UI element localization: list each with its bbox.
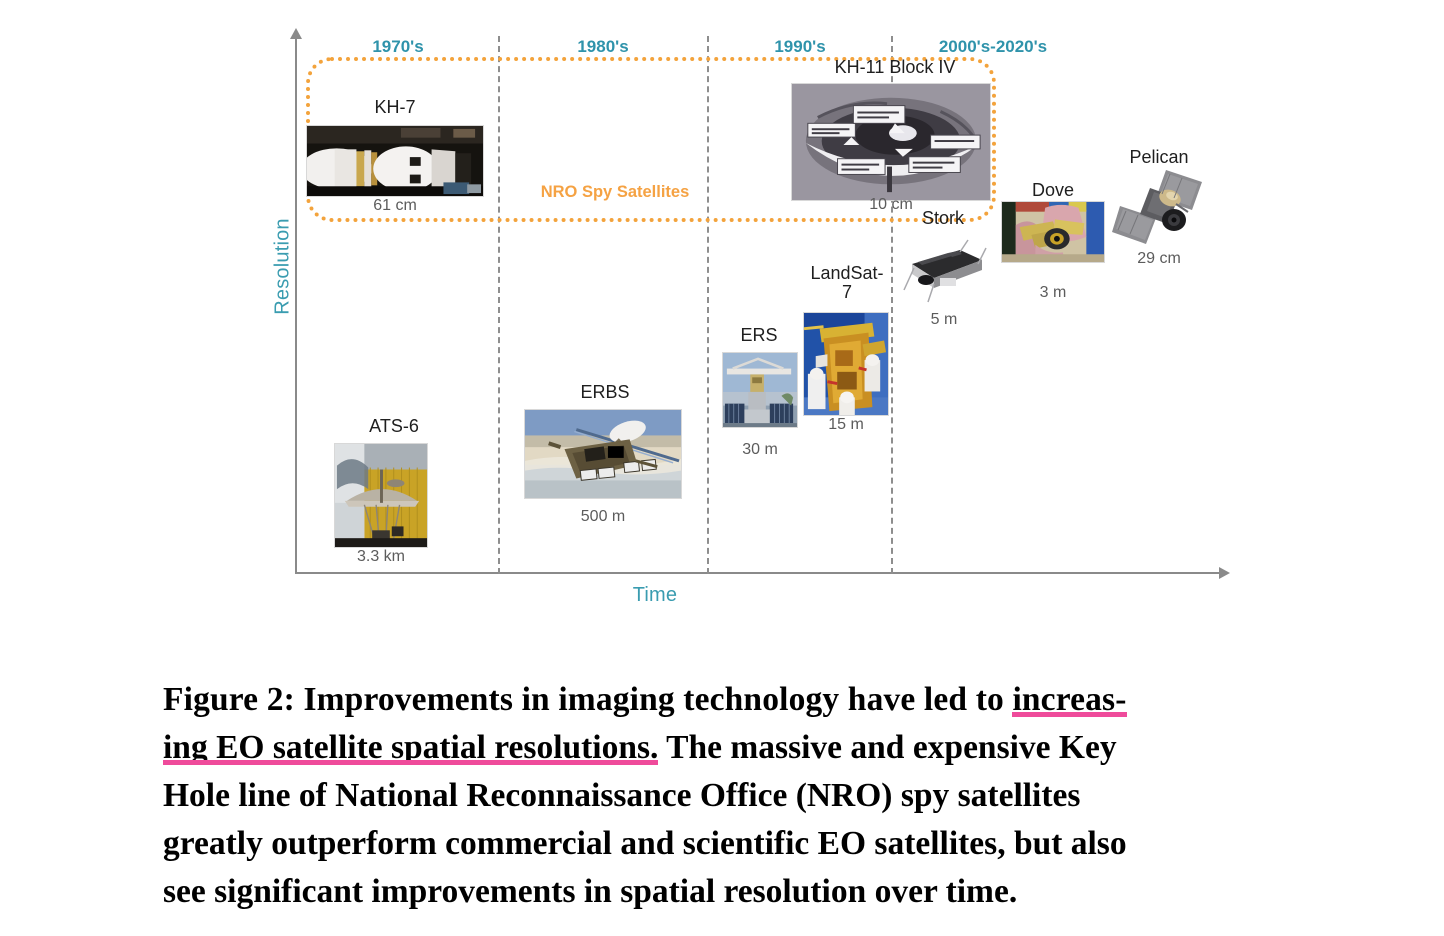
decade-label-1990s: 1990's — [720, 37, 880, 57]
caption-line-1-text: Figure 2: Improvements in imaging techno… — [163, 681, 1012, 718]
satellite-name-kh-7: KH-7 — [330, 98, 460, 117]
caption-line-3: Hole line of National Reconnaissance Off… — [163, 772, 1343, 820]
figure-page: Resolution Time 1970's 1980's 1990's 200… — [0, 0, 1444, 936]
satellite-name-stork: Stork — [898, 209, 988, 228]
satellite-image-landsat-7 — [803, 312, 889, 416]
satellite-resolution-ats-6: 3.3 km — [334, 548, 428, 566]
caption-highlight-2: ing EO satellite spatial resolutions. — [163, 729, 658, 766]
caption-line-5: see significant improvements in spatial … — [163, 868, 1343, 916]
satellite-name-ers: ERS — [713, 326, 805, 345]
figure-chart: Resolution Time 1970's 1980's 1990's 200… — [0, 0, 1444, 640]
satellite-image-kh-11 — [791, 83, 991, 201]
satellite-image-kh-7 — [306, 125, 484, 197]
y-axis-label: Resolution — [272, 202, 295, 332]
satellite-image-dove — [1001, 201, 1105, 263]
satellite-image-erbs — [524, 409, 682, 499]
satellite-image-ats-6 — [334, 443, 428, 548]
satellite-name-kh-11: KH-11 Block IV — [780, 58, 1010, 77]
decade-label-2000s-2020s: 2000's-2020's — [908, 37, 1078, 57]
caption-line-4: greatly outperform commercial and scient… — [163, 820, 1343, 868]
satellite-resolution-dove: 3 m — [1001, 284, 1105, 302]
caption-line-2-text: The massive and expensive Key — [658, 729, 1116, 766]
satellite-resolution-erbs: 500 m — [524, 508, 682, 526]
satellite-resolution-kh-7: 61 cm — [306, 197, 484, 215]
satellite-resolution-pelican: 29 cm — [1110, 250, 1208, 268]
y-axis-arrow-icon — [290, 28, 302, 39]
y-axis-line — [295, 36, 297, 574]
satellite-name-pelican: Pelican — [1113, 148, 1205, 167]
satellite-image-stork — [898, 232, 990, 304]
x-axis-label: Time — [590, 584, 720, 607]
x-axis-arrow-icon — [1219, 567, 1230, 579]
satellite-name-erbs: ERBS — [533, 383, 677, 402]
caption-line-1: Figure 2: Improvements in imaging techno… — [163, 676, 1343, 724]
decade-label-1980s: 1980's — [523, 37, 683, 57]
satellite-image-pelican — [1110, 168, 1208, 250]
satellite-name-landsat-7: LandSat- 7 — [800, 264, 894, 303]
nro-spy-satellites-label: NRO Spy Satellites — [520, 183, 710, 202]
satellite-resolution-landsat-7: 15 m — [803, 416, 889, 434]
caption-highlight-1: increas- — [1012, 681, 1126, 718]
x-axis-line — [295, 572, 1225, 574]
satellite-name-dove: Dove — [1008, 181, 1098, 200]
figure-caption: Figure 2: Improvements in imaging techno… — [163, 676, 1343, 916]
decade-label-1970s: 1970's — [318, 37, 478, 57]
satellite-name-ats-6: ATS-6 — [322, 417, 466, 436]
satellite-image-ers — [722, 352, 798, 428]
satellite-resolution-ers: 30 m — [722, 441, 798, 459]
satellite-resolution-stork: 5 m — [898, 311, 990, 329]
caption-line-2: ing EO satellite spatial resolutions. Th… — [163, 724, 1343, 772]
